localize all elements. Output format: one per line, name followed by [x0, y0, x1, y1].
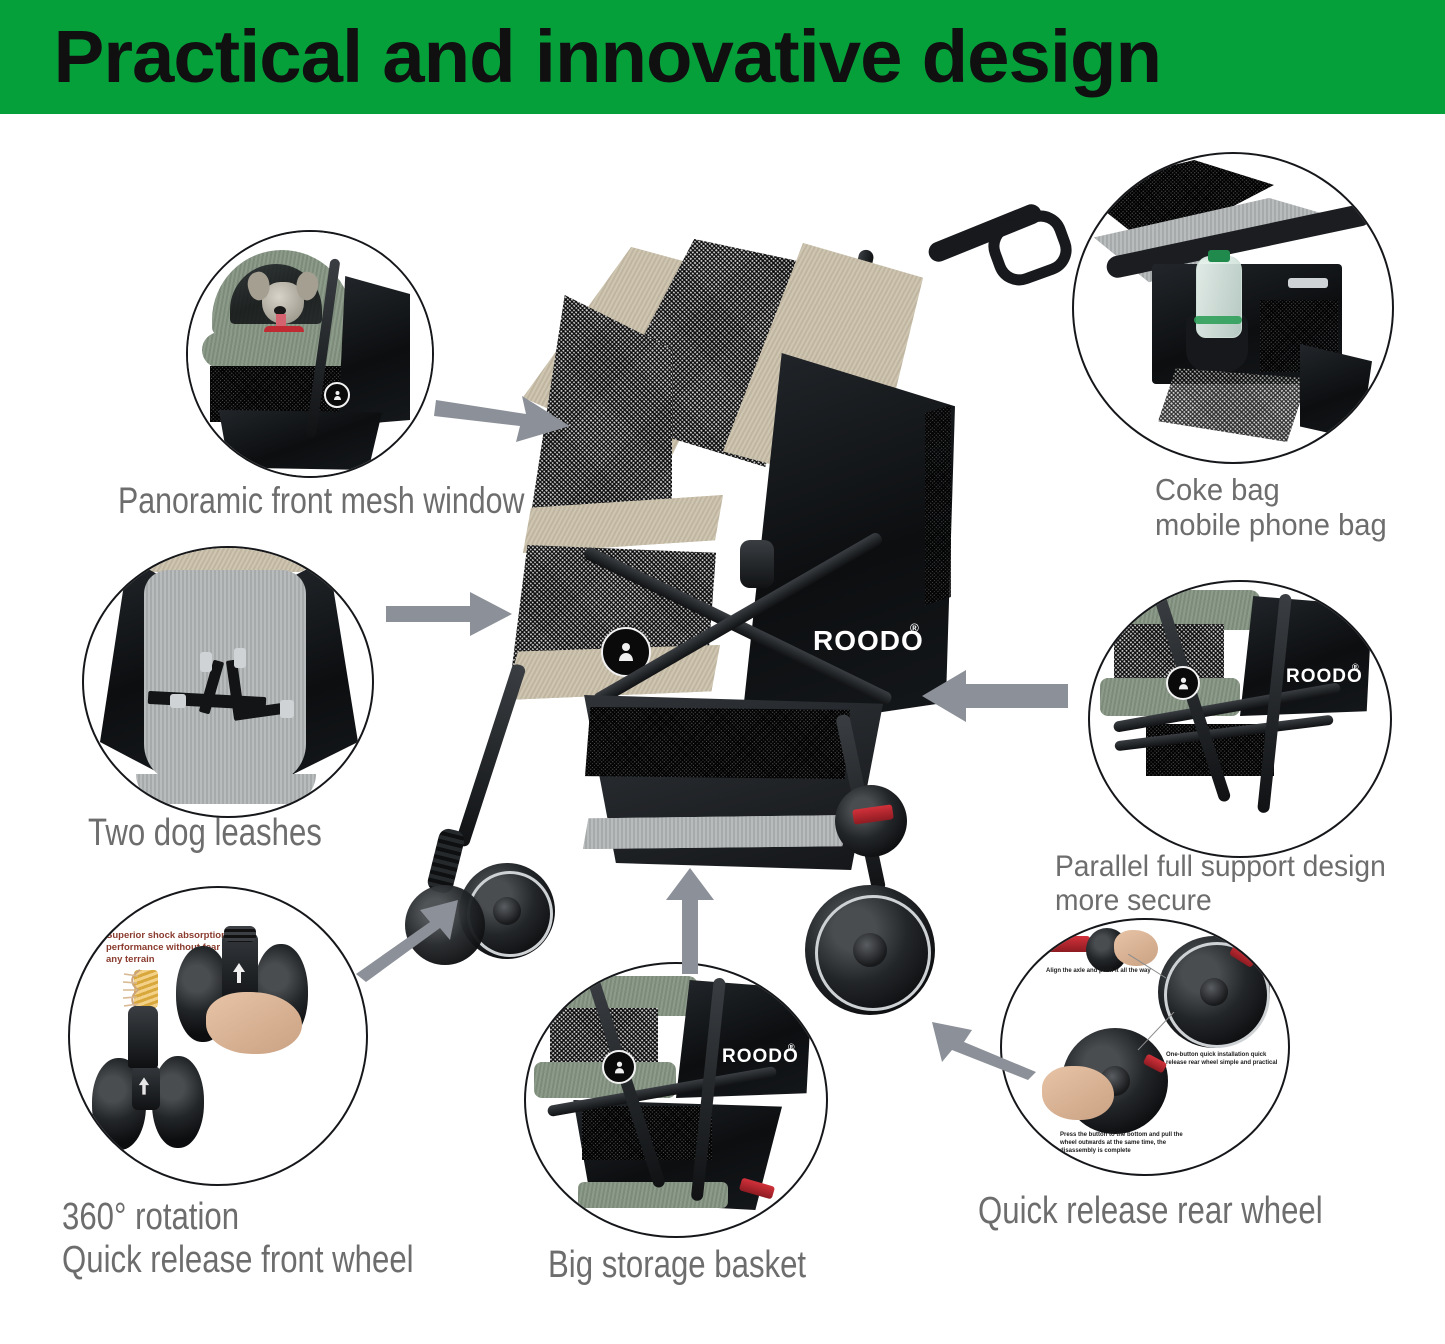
caption-two-dog-leashes: Two dog leashes	[88, 812, 322, 855]
cabin-rim-sage	[202, 332, 362, 368]
step2-note: One-button quick installation quick rele…	[1166, 1052, 1284, 1068]
caption-parallel-full-support-design: Parallel full support design more secure	[1055, 850, 1386, 917]
front-leg	[455, 663, 527, 848]
rear-wheel-hub	[853, 933, 887, 967]
side-vent-mesh	[925, 405, 951, 605]
caption-quick-release-front-wheel: 360° rotation Quick release front wheel	[62, 1196, 414, 1281]
storage-basket-bottom-band	[583, 815, 853, 849]
caption-quick-release-rear-wheel: Quick release rear wheel	[978, 1190, 1323, 1233]
leash-clip-right	[234, 648, 246, 668]
callout-photo-support-frame: ROODO ®	[1090, 582, 1390, 856]
leash-buckle	[170, 694, 186, 708]
roodo-badge-icon	[324, 382, 350, 408]
callout-photo-front-wheel-assembly: Superior shock absorption performance wi…	[70, 888, 366, 1184]
roodo-registered-mark-basket: ®	[788, 1042, 796, 1052]
callout-quick-release-rear-wheel: Align the axle and push it all the way O…	[1000, 918, 1290, 1176]
step2-wheel-hub	[1200, 978, 1228, 1006]
bottle-cap	[1208, 250, 1230, 262]
leash-clip-left	[200, 652, 212, 672]
caption-big-storage-basket: Big storage basket	[548, 1244, 806, 1287]
page-title: Practical and innovative design	[0, 20, 1161, 94]
arrow-to-support-frame	[920, 668, 1070, 724]
callout-photo-cabin-interior	[84, 548, 372, 816]
callout-photo-dog-in-stroller	[188, 232, 432, 476]
up-arrow-icon-upper	[232, 962, 246, 984]
callout-coke-bag-mobile-phone-bag	[1072, 152, 1394, 464]
header-banner: Practical and innovative design	[0, 0, 1445, 114]
caption-coke-bag-mobile-phone-bag: Coke bag mobile phone bag	[1155, 473, 1387, 542]
callout-quick-release-front-wheel: Superior shock absorption performance wi…	[68, 886, 368, 1186]
callout-panoramic-front-mesh-window	[186, 230, 434, 478]
roodo-registered-mark-callout: ®	[1352, 662, 1360, 672]
bottle-label-ring	[1194, 316, 1242, 324]
axle-red-part	[1044, 936, 1090, 952]
dog-photo	[246, 268, 318, 342]
detached-spring-post	[128, 1006, 158, 1068]
roodo-badge-icon	[1166, 666, 1200, 700]
arrow-to-front-window	[434, 384, 574, 454]
roodo-wordmark-body: ROODO	[813, 625, 924, 657]
upper-spring-collar	[224, 926, 256, 942]
callout-photo-organizer-bag	[1074, 154, 1392, 462]
cabin-front-lip	[136, 774, 316, 804]
leash-clip-end	[280, 700, 294, 718]
callout-big-storage-basket: ROODO ®	[524, 962, 828, 1238]
bag-zipper-pull	[1288, 278, 1328, 288]
arrow-to-cabin	[384, 588, 514, 646]
callout-photo-rear-wheel-steps: Align the axle and push it all the way O…	[1002, 920, 1288, 1174]
hand-holding-wheel	[206, 992, 302, 1054]
front-wheel-hub	[493, 897, 521, 925]
leader-line-step2	[1128, 954, 1168, 980]
step3-hand	[1042, 1066, 1114, 1120]
basket-bottom-band	[578, 1182, 728, 1208]
step3-note: Press the button to the bottom and pull …	[1060, 1132, 1188, 1155]
arrow-to-basket	[660, 866, 720, 976]
storage-basket-mesh	[585, 707, 850, 779]
bag-side-panel	[1300, 344, 1372, 440]
arrow-to-front-wheel	[352, 896, 462, 986]
water-bottle	[1196, 256, 1242, 338]
callout-photo-storage-basket: ROODO ®	[526, 964, 826, 1236]
cabin-pad	[144, 570, 306, 784]
caption-panoramic-front-mesh-window: Panoramic front mesh window	[118, 480, 577, 521]
callout-two-dog-leashes	[82, 546, 374, 818]
up-arrow-icon-lower	[138, 1076, 150, 1096]
stroller-body-black	[338, 276, 410, 426]
callout-parallel-full-support-design: ROODO ®	[1088, 580, 1392, 858]
basket-black	[212, 410, 382, 470]
cabin-top-edge	[138, 546, 308, 572]
arrow-to-rear-wheel	[930, 1008, 1040, 1084]
frame-joint-hub	[740, 540, 774, 588]
roodo-badge-icon	[602, 1050, 636, 1084]
roodo-registered-mark-body: ®	[910, 621, 920, 635]
leader-line-step3	[1136, 1012, 1176, 1052]
basket-floor-mesh	[1158, 368, 1308, 442]
